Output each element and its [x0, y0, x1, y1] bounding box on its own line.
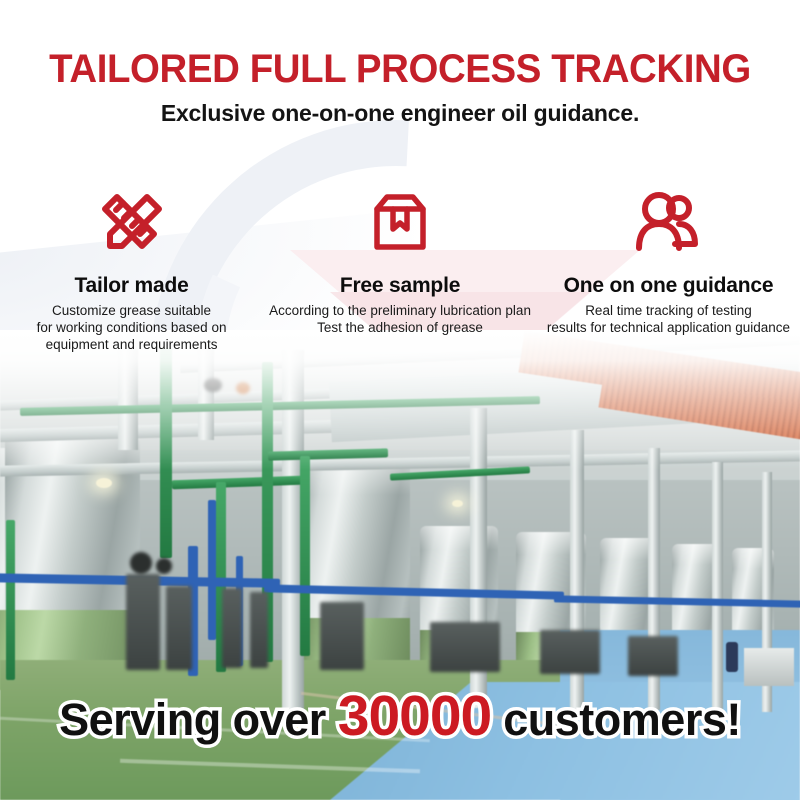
- photo-valve: [156, 558, 172, 574]
- feature-item-tailor-made[interactable]: Tailor made Customize grease suitable fo…: [0, 186, 263, 353]
- feature-desc-line: results for technical application guidan…: [543, 319, 794, 336]
- poster-root: TAILORED FULL PROCESS TRACKING Exclusive…: [0, 0, 800, 800]
- two-people-icon: [543, 186, 794, 258]
- header-block: TAILORED FULL PROCESS TRACKING Exclusive…: [0, 46, 800, 127]
- feature-desc-line: Real time tracking of testing: [543, 302, 794, 319]
- banner-prefix: Serving over: [59, 694, 338, 745]
- photo-pipe-green: [300, 456, 310, 656]
- feature-description: Customize grease suitable for working co…: [6, 302, 257, 353]
- feature-item-free-sample[interactable]: Free sample According to the preliminary…: [263, 186, 537, 353]
- photo-machinery: [628, 636, 678, 676]
- photo-machinery: [430, 622, 500, 672]
- photo-pipe-green: [6, 520, 15, 680]
- feature-desc-line: equipment and requirements: [6, 336, 257, 353]
- package-box-icon: [269, 186, 531, 258]
- feature-desc-line: for working conditions based on: [6, 319, 257, 336]
- feature-description: According to the preliminary lubrication…: [269, 302, 531, 336]
- ruler-pencil-icon: [6, 186, 257, 258]
- feature-description: Real time tracking of testing results fo…: [543, 302, 794, 336]
- photo-pallet: [744, 648, 794, 686]
- feature-title: One on one guidance: [543, 274, 794, 298]
- feature-title: Free sample: [269, 274, 531, 298]
- photo-valve: [130, 552, 152, 574]
- photo-ceiling-light: [96, 478, 112, 488]
- photo-machinery: [250, 592, 268, 668]
- feature-title: Tailor made: [6, 274, 257, 298]
- customer-count-banner: Serving over 30000 customers!: [0, 688, 800, 748]
- photo-machinery: [320, 602, 364, 670]
- banner-count: 30000: [338, 684, 492, 748]
- photo-pipe-blue: [208, 500, 216, 640]
- photo-worker: [726, 642, 738, 672]
- page-title: TAILORED FULL PROCESS TRACKING: [16, 46, 784, 92]
- feature-desc-line: According to the preliminary lubrication…: [269, 302, 531, 319]
- banner-suffix: customers!: [491, 694, 741, 745]
- feature-desc-line: Test the adhesion of grease: [269, 319, 531, 336]
- photo-column: [712, 462, 723, 712]
- photo-machinery: [540, 630, 600, 674]
- feature-item-one-on-one-guidance[interactable]: One on one guidance Real time tracking o…: [537, 186, 800, 353]
- photo-ceiling-light: [452, 500, 463, 507]
- photo-machinery: [166, 586, 192, 670]
- photo-machinery: [222, 588, 242, 668]
- photo-machinery: [126, 574, 160, 670]
- feature-desc-line: Customize grease suitable: [6, 302, 257, 319]
- page-subtitle: Exclusive one-on-one engineer oil guidan…: [0, 100, 800, 127]
- feature-list: Tailor made Customize grease suitable fo…: [0, 186, 800, 353]
